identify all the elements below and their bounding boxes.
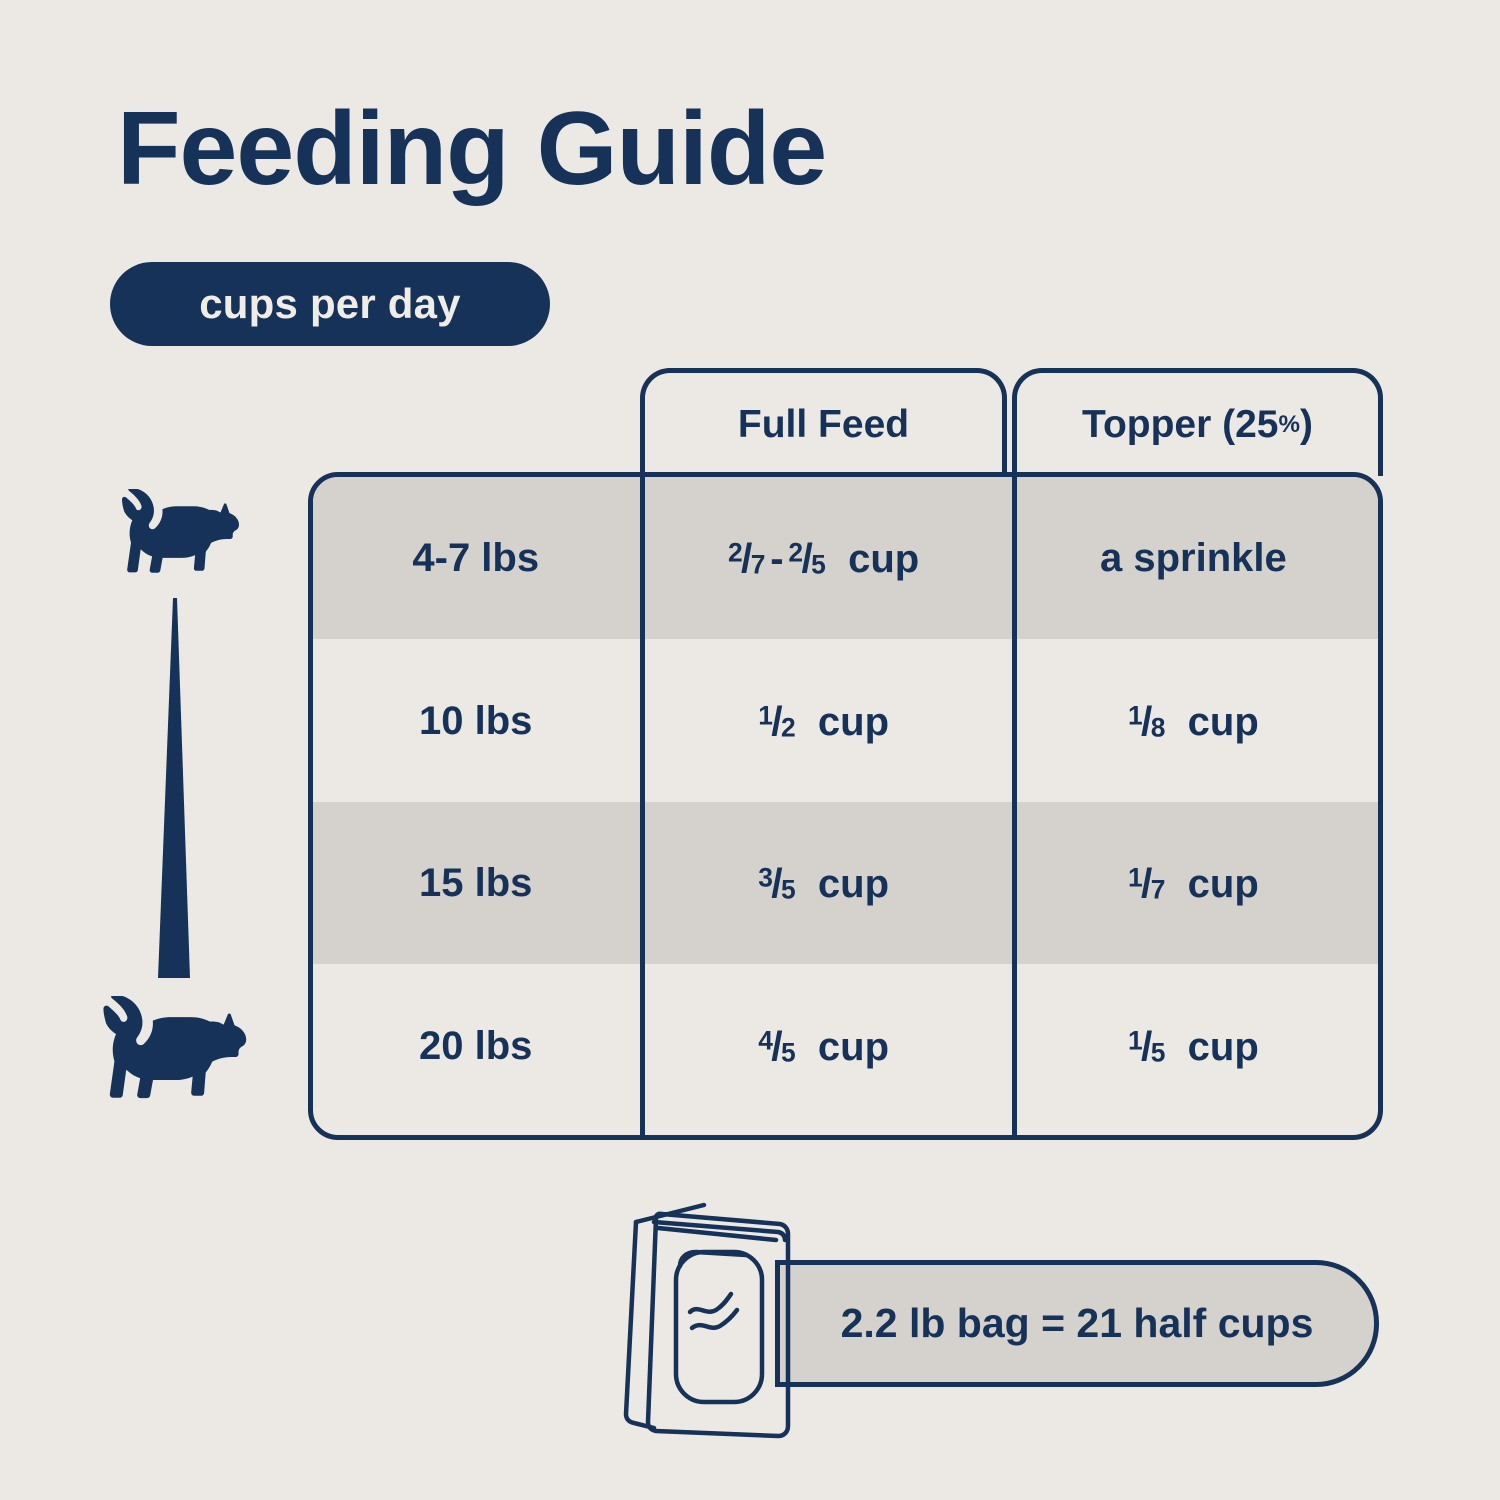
cell-topper: a sprinkle [1009,477,1378,639]
badge-label: cups per day [199,280,461,328]
table-row: 10 lbs 1/2 cup 1/8 cup [313,640,1378,802]
cell-weight: 15 lbs [313,802,638,964]
cell-topper: 1/8 cup [1009,640,1378,802]
unit-label: cup [818,862,889,906]
size-scale-wedge-icon [130,598,220,978]
table-rows: 4-7 lbs 2/7-2/5 cup a sprinkle 10 lbs [313,477,1378,1135]
cell-weight: 20 lbs [313,965,638,1127]
fraction-denominator: 5 [1151,1037,1166,1067]
table-row: 4-7 lbs 2/7-2/5 cup a sprinkle [313,477,1378,639]
page-title: Feeding Guide [117,95,826,204]
fraction-denominator: 5 [811,549,826,579]
unit-label: cup [848,537,919,581]
column-header-topper-close: ) [1300,403,1313,447]
cell-topper: 1/5 cup [1009,965,1378,1127]
column-header-topper: Topper (25%) [1012,368,1383,476]
table-header-row: Full Feed Topper (25%) [640,368,1383,476]
column-header-full-feed-label: Full Feed [738,403,909,447]
bag-yield-callout: 2.2 lb bag = 21 half cups [775,1260,1379,1387]
table-row: 20 lbs 4/5 cup 1/5 cup [313,965,1378,1127]
unit-label: cup [1188,700,1259,744]
range-dash: - [770,537,783,581]
column-header-topper-label: Topper (25 [1082,403,1278,447]
fraction-denominator: 2 [781,712,796,742]
unit-label: cup [818,1025,889,1069]
cell-weight: 4-7 lbs [313,477,638,639]
unit-label: cup [1188,1025,1259,1069]
cell-topper: 1/7 cup [1009,802,1378,964]
cat-small-icon [116,489,242,589]
table-body: 4-7 lbs 2/7-2/5 cup a sprinkle 10 lbs [308,472,1383,1140]
fraction-denominator: 5 [781,1037,796,1067]
fraction-denominator: 7 [1151,874,1166,904]
unit-label: cup [818,700,889,744]
percent-symbol: % [1278,411,1300,439]
cell-weight: 10 lbs [313,640,638,802]
feeding-table: Full Feed Topper (25%) 4-7 lbs 2/7-2/5 [308,368,1383,1140]
unit-label: cup [1188,862,1259,906]
fraction-denominator: 8 [1151,712,1166,742]
bag-yield-text: 2.2 lb bag = 21 half cups [841,1300,1314,1347]
food-bag-icon [618,1200,828,1440]
cell-full-feed: 4/5 cup [638,965,1008,1127]
fraction-denominator: 7 [751,549,766,579]
cups-per-day-badge: cups per day [110,262,550,346]
cell-full-feed: 1/2 cup [638,640,1008,802]
fraction-denominator: 5 [781,874,796,904]
cell-full-feed: 3/5 cup [638,802,1008,964]
feeding-guide-infographic: Feeding Guide cups per day Full Feed Top… [0,0,1500,1500]
cat-large-icon [86,996,260,1118]
column-header-full-feed: Full Feed [640,368,1007,476]
table-row: 15 lbs 3/5 cup 1/7 cup [313,802,1378,964]
cell-full-feed: 2/7-2/5 cup [638,477,1008,639]
